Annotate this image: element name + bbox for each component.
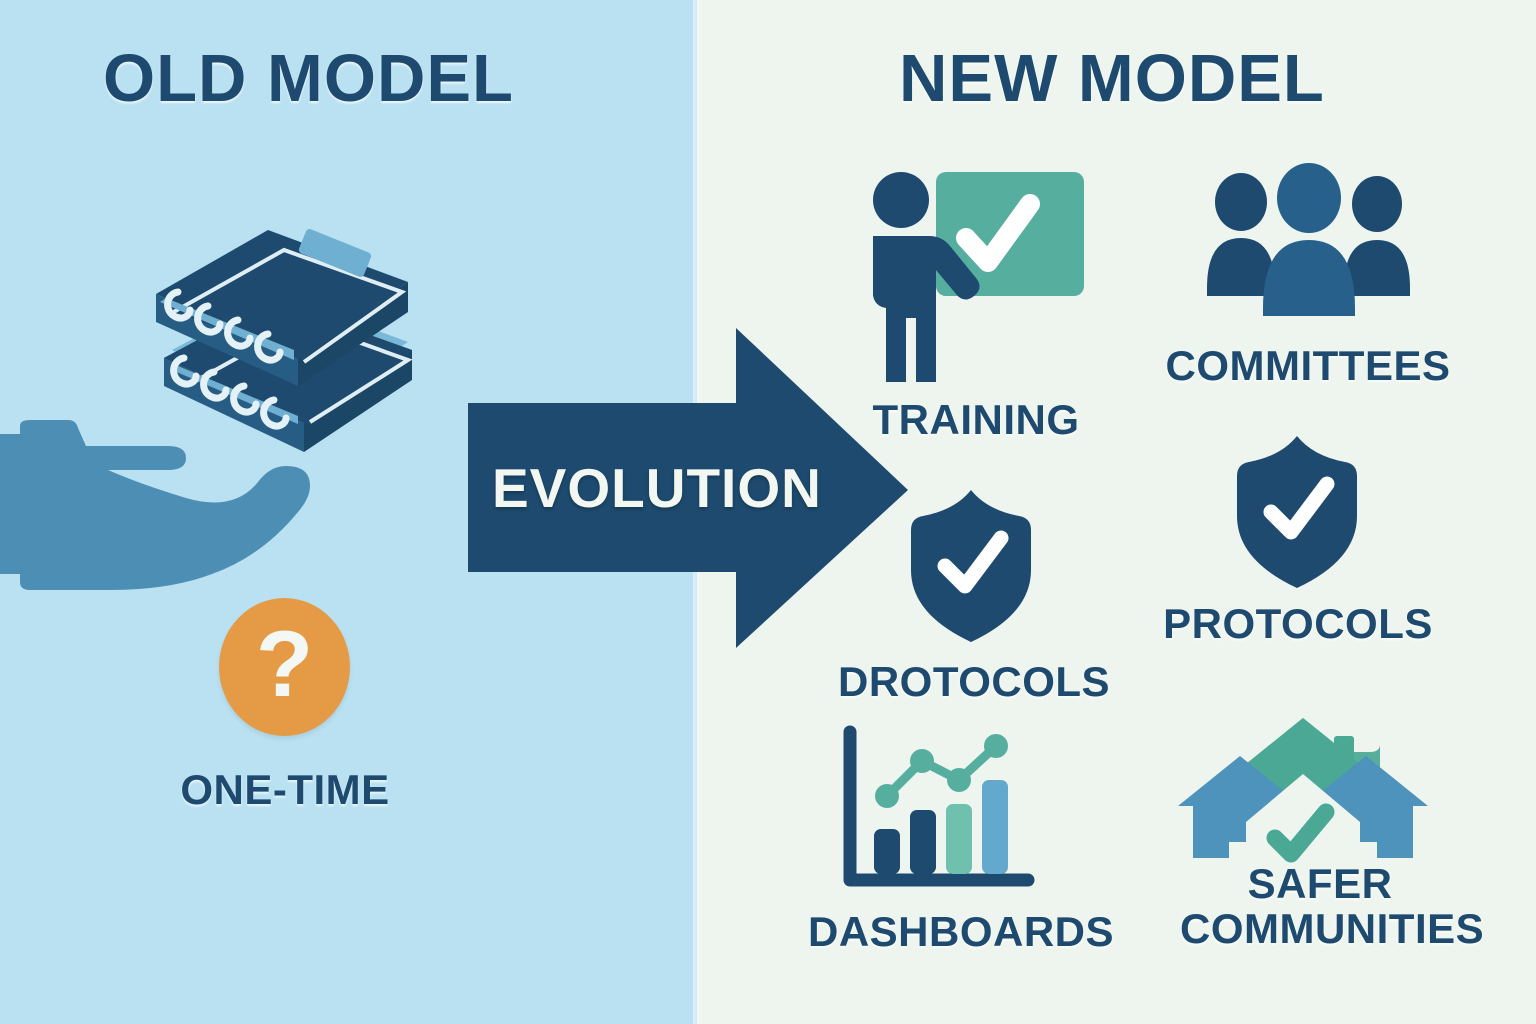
caption-committees: COMMITTEES — [1163, 342, 1453, 390]
trainer-whiteboard-icon — [860, 166, 1090, 382]
question-mark-glyph: ? — [219, 598, 350, 736]
shield-check-icon — [905, 488, 1037, 644]
caption-protocols: PROTOCOLS — [1163, 600, 1433, 648]
people-group-icon — [1201, 172, 1417, 316]
houses-check-icon — [1174, 718, 1432, 874]
caption-safer-line1: SAFER — [1180, 862, 1460, 907]
caption-drotocols: DROTOCOLS — [838, 658, 1106, 706]
caption-dashboards: DASHBOARDS — [808, 908, 1092, 956]
infographic-canvas: OLD MODEL — [0, 0, 1536, 1024]
question-mark-badge-icon: ? — [219, 598, 350, 736]
evolution-label: EVOLUTION — [492, 456, 852, 520]
old-model-title: OLD MODEL — [103, 40, 514, 117]
caption-safer-communities: SAFER COMMUNITIES — [1180, 862, 1460, 951]
bar-line-chart-icon — [842, 728, 1036, 896]
new-model-title: NEW MODEL — [899, 40, 1325, 117]
caption-training: TRAINING — [870, 396, 1082, 444]
open-hand-icon — [0, 420, 380, 605]
caption-one-time: ONE-TIME — [160, 766, 410, 814]
shield-check-icon — [1231, 434, 1363, 590]
caption-safer-line2: COMMUNITIES — [1180, 907, 1460, 952]
